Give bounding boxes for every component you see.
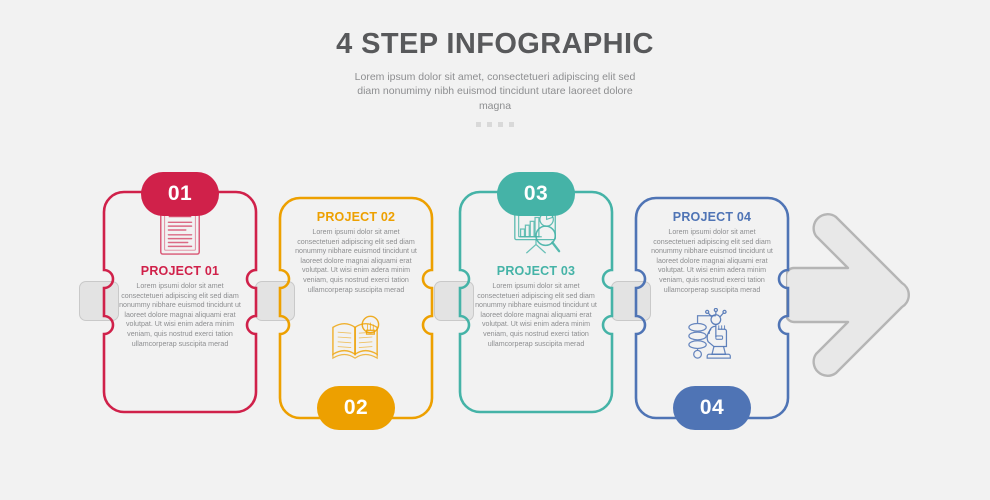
step-badge-4[interactable]: 04 (673, 386, 751, 430)
step-card-4-title: PROJECT 04 (673, 210, 751, 224)
step-card-3-body: Lorem ipsumi dolor sit amet consectetuer… (474, 282, 598, 349)
step-card-3[interactable]: PROJECT 03 Lorem ipsumi dolor sit amet c… (458, 190, 614, 414)
dot-2 (487, 122, 492, 127)
step-card-3-title: PROJECT 03 (497, 264, 575, 278)
infographic-canvas: 4 STEP INFOGRAPHIC Lorem ipsum dolor sit… (0, 0, 990, 500)
page-subtitle: Lorem ipsum dolor sit amet, consectetuer… (345, 70, 645, 113)
step-badge-3[interactable]: 03 (497, 172, 575, 216)
dot-4 (509, 122, 514, 127)
robot-hand-ai-icon (683, 307, 741, 363)
step-badge-1[interactable]: 01 (141, 172, 219, 216)
open-book-lightbulb-icon (327, 309, 385, 365)
step-badge-2[interactable]: 02 (317, 386, 395, 430)
dot-1 (476, 122, 481, 127)
decorative-dots (0, 122, 990, 127)
right-arrow-decoration (786, 212, 910, 378)
step-card-4-body: Lorem ipsumi dolor sit amet consectetuer… (650, 228, 774, 295)
step-card-1-title: PROJECT 01 (141, 264, 219, 278)
header: 4 STEP INFOGRAPHIC Lorem ipsum dolor sit… (0, 26, 990, 127)
step-card-1-body: Lorem ipsumi dolor sit amet consectetuer… (118, 282, 242, 349)
dot-3 (498, 122, 503, 127)
page-title: 4 STEP INFOGRAPHIC (0, 26, 990, 62)
step-card-2-body: Lorem ipsumi dolor sit amet consectetuer… (294, 228, 418, 295)
step-card-2-title: PROJECT 02 (317, 210, 395, 224)
step-card-1[interactable]: PROJECT 01 Lorem ipsumi dolor sit amet c… (102, 190, 258, 414)
